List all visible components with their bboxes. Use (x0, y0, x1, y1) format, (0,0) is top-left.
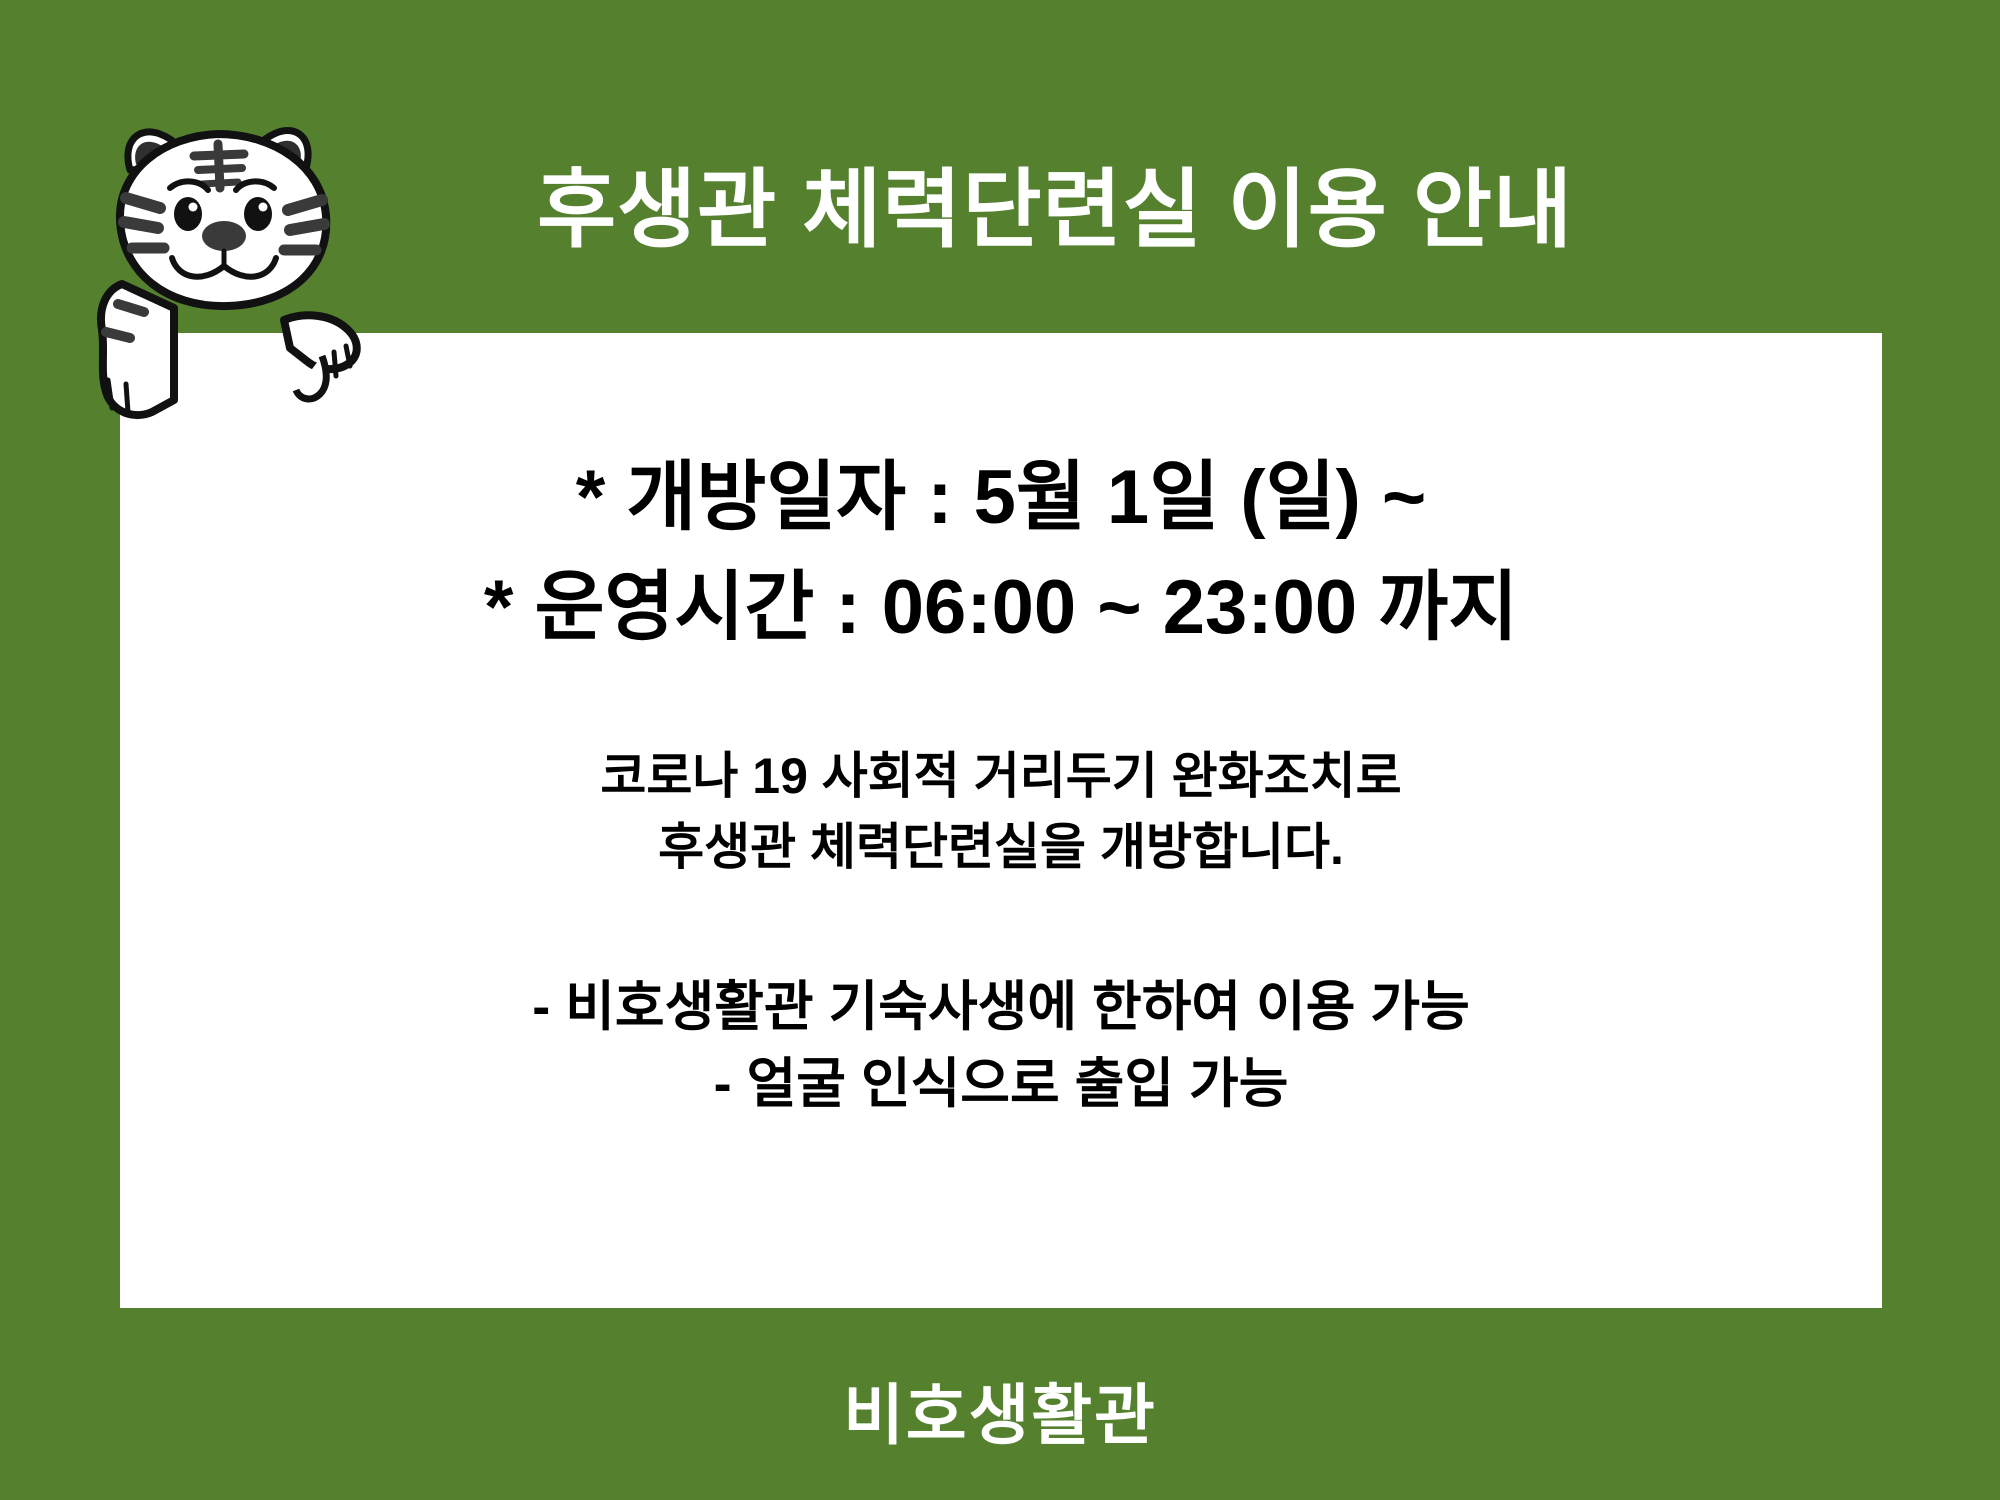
bullet-line-face-recognition: - 얼굴 인식으로 출입 가능 (120, 1046, 1882, 1123)
notice-block: 코로나 19 사회적 거리두기 완화조치로 후생관 체력단련실을 개방합니다. (120, 741, 1882, 883)
content-card: * 개방일자 : 5월 1일 (일) ~ * 운영시간 : 06:00 ~ 23… (120, 333, 1882, 1308)
notice-line-2: 후생관 체력단련실을 개방합니다. (120, 812, 1882, 883)
footer: 비호생활관 (0, 1382, 2000, 1448)
footer-organization-name: 비호생활관 (0, 1382, 2000, 1448)
headline-block: * 개방일자 : 5월 1일 (일) ~ * 운영시간 : 06:00 ~ 23… (120, 443, 1882, 663)
page-title: 후생관 체력단련실 이용 안내 (537, 167, 1573, 253)
bullet-block: - 비호생활관 기숙사생에 한하여 이용 가능 - 얼굴 인식으로 출입 가능 (120, 969, 1882, 1122)
headline-operating-hours: * 운영시간 : 06:00 ~ 23:00 까지 (120, 553, 1882, 663)
headline-open-date: * 개방일자 : 5월 1일 (일) ~ (120, 443, 1882, 553)
notice-line-1: 코로나 19 사회적 거리두기 완화조치로 (120, 741, 1882, 812)
tiger-mascot-icon (78, 108, 398, 428)
poster-root: 후생관 체력단련실 이용 안내 (0, 0, 2000, 1500)
bullet-line-residents-only: - 비호생활관 기숙사생에 한하여 이용 가능 (120, 969, 1882, 1046)
